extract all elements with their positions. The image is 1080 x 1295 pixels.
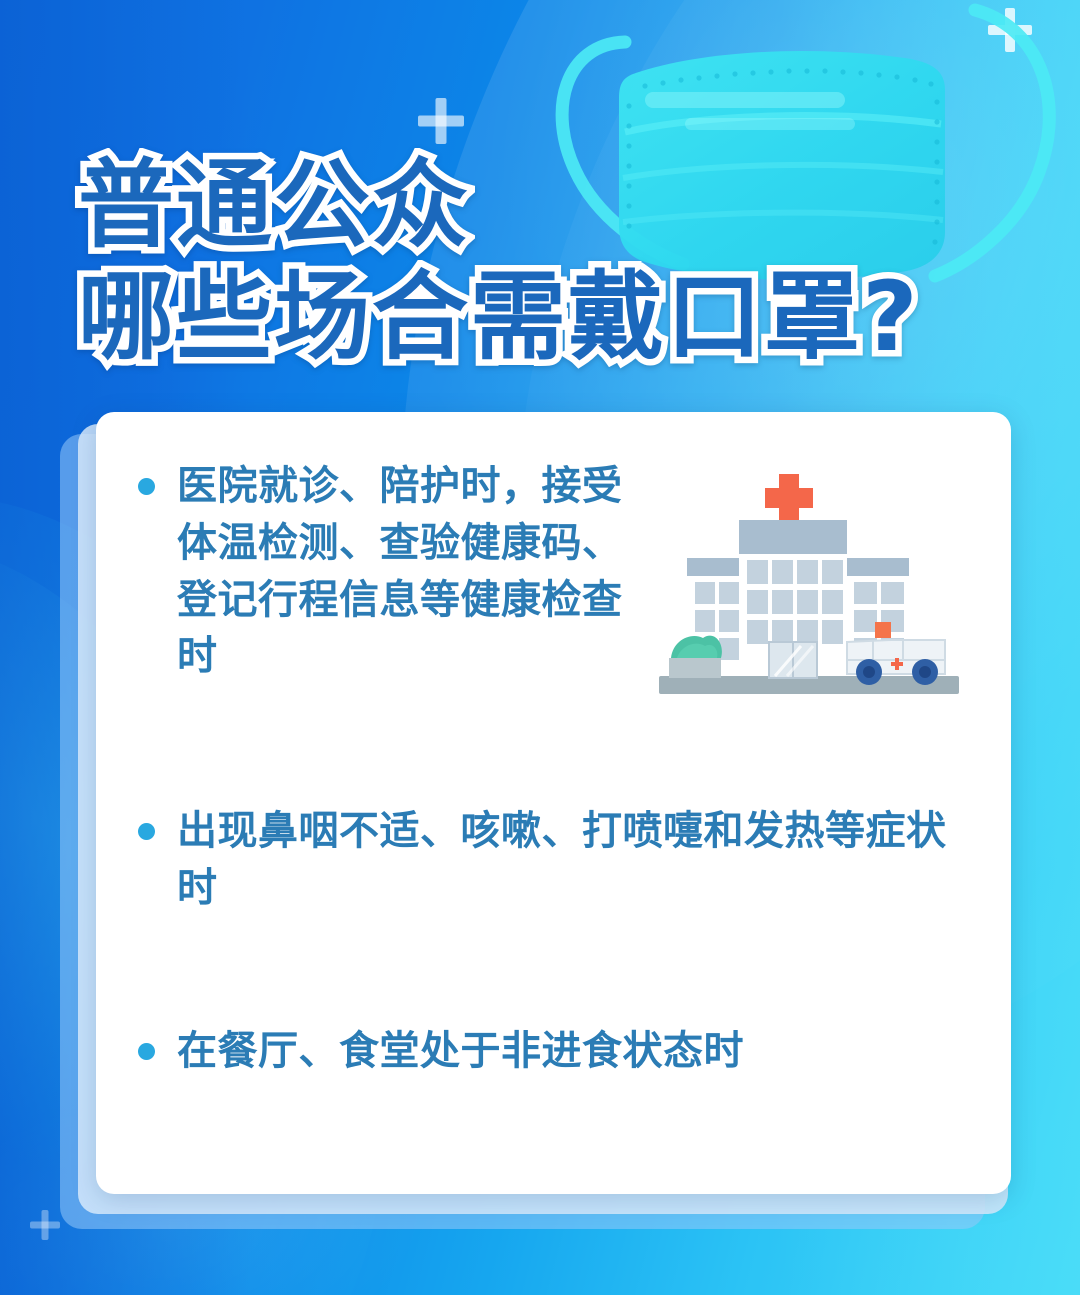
bullet-text-symptoms: 出现鼻咽不适、咳嗽、打喷嚏和发热等症状时 [177, 803, 967, 917]
bullet-text-restaurant: 在餐厅、食堂处于非进食状态时 [177, 1023, 967, 1080]
bullet-dot-icon [138, 478, 155, 495]
bullet-list: 医院就诊、陪护时，接受体温检测、查验健康码、登记行程信息等健康检查时 出现鼻咽不… [138, 458, 983, 1080]
title-line-1: 普通公众 [78, 155, 1018, 257]
bullet-text-hospital: 医院就诊、陪护时，接受体温检测、查验健康码、登记行程信息等健康检查时 [177, 458, 647, 685]
list-item: 医院就诊、陪护时，接受体温检测、查验健康码、登记行程信息等健康检查时 [138, 458, 983, 685]
content-card: 医院就诊、陪护时，接受体温检测、查验健康码、登记行程信息等健康检查时 出现鼻咽不… [96, 412, 1011, 1194]
list-item: 在餐厅、食堂处于非进食状态时 [138, 1023, 983, 1080]
bullet-dot-icon [138, 1043, 155, 1060]
card-stack: 医院就诊、陪护时，接受体温检测、查验健康码、登记行程信息等健康检查时 出现鼻咽不… [60, 412, 1020, 1232]
list-item: 出现鼻咽不适、咳嗽、打喷嚏和发热等症状时 [138, 803, 983, 917]
poster-root: 普通公众 哪些场合需戴口罩? [0, 0, 1080, 1295]
poster-title: 普通公众 哪些场合需戴口罩? [78, 155, 1018, 369]
title-line-2: 哪些场合需戴口罩? [78, 267, 1018, 369]
bullet-dot-icon [138, 823, 155, 840]
